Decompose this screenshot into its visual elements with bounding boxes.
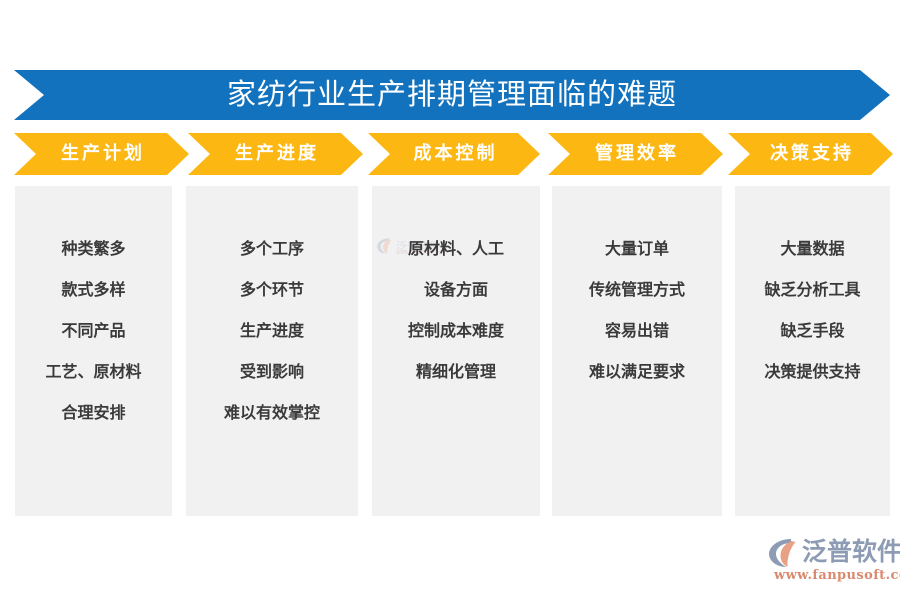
list-item: 控制成本难度 <box>372 323 540 339</box>
title-banner: 家纺行业生产排期管理面临的难题 <box>14 70 890 120</box>
list-item: 不同产品 <box>15 323 172 339</box>
tab-label: 管理效率 <box>548 133 723 175</box>
list-item: 难以满足要求 <box>552 364 722 380</box>
brand-logo: 泛普软件 www.fanpusoft.com <box>768 536 892 584</box>
panel-management-efficiency: 大量订单 传统管理方式 容易出错 难以满足要求 <box>552 186 722 516</box>
list-item: 传统管理方式 <box>552 282 722 298</box>
list-item: 多个环节 <box>186 282 358 298</box>
list-item: 设备方面 <box>372 282 540 298</box>
list-item: 多个工序 <box>186 241 358 257</box>
list-item: 生产进度 <box>186 323 358 339</box>
list-item: 受到影响 <box>186 364 358 380</box>
list-item: 决策提供支持 <box>735 364 890 380</box>
list-item: 缺乏手段 <box>735 323 890 339</box>
tab-production-plan[interactable]: 生产计划 <box>14 133 189 175</box>
list-item: 合理安排 <box>15 405 172 421</box>
list-item: 容易出错 <box>552 323 722 339</box>
tab-label: 成本控制 <box>368 133 540 175</box>
content-panel-row: 种类繁多 款式多样 不同产品 工艺、原材料 合理安排 多个工序 多个环节 生产进… <box>0 186 900 516</box>
brand-name: 泛普软件 <box>802 536 900 568</box>
panel-cost-control: 泛普软件 www.fanpusoft.com 原材料、人工 设备方面 控制成本难… <box>372 186 540 516</box>
category-tab-row: 生产计划 生产进度 成本控制 管理效率 决策支持 <box>0 133 900 177</box>
infographic-root: 家纺行业生产排期管理面临的难题 生产计划 生产进度 成本控制 管理效率 决策支持… <box>0 0 900 600</box>
list-item: 款式多样 <box>15 282 172 298</box>
tab-production-progress[interactable]: 生产进度 <box>188 133 363 175</box>
list-item: 工艺、原材料 <box>15 364 172 380</box>
list-item: 种类繁多 <box>15 241 172 257</box>
list-item: 大量订单 <box>552 241 722 257</box>
list-item: 缺乏分析工具 <box>735 282 890 298</box>
tab-cost-control[interactable]: 成本控制 <box>368 133 540 175</box>
list-item: 难以有效掌控 <box>186 405 358 421</box>
list-item: 大量数据 <box>735 241 890 257</box>
tab-label: 生产进度 <box>188 133 363 175</box>
tab-label: 生产计划 <box>14 133 189 175</box>
tab-label: 决策支持 <box>728 133 893 175</box>
fanpu-logo-icon <box>768 538 802 568</box>
panel-production-progress: 多个工序 多个环节 生产进度 受到影响 难以有效掌控 <box>186 186 358 516</box>
tab-management-efficiency[interactable]: 管理效率 <box>548 133 723 175</box>
panel-decision-support: 大量数据 缺乏分析工具 缺乏手段 决策提供支持 <box>735 186 890 516</box>
list-item: 原材料、人工 <box>372 241 540 257</box>
tab-decision-support[interactable]: 决策支持 <box>728 133 893 175</box>
panel-production-plan: 种类繁多 款式多样 不同产品 工艺、原材料 合理安排 <box>15 186 172 516</box>
page-title: 家纺行业生产排期管理面临的难题 <box>14 70 890 120</box>
list-item: 精细化管理 <box>372 364 540 380</box>
brand-url: www.fanpusoft.com <box>774 568 900 583</box>
